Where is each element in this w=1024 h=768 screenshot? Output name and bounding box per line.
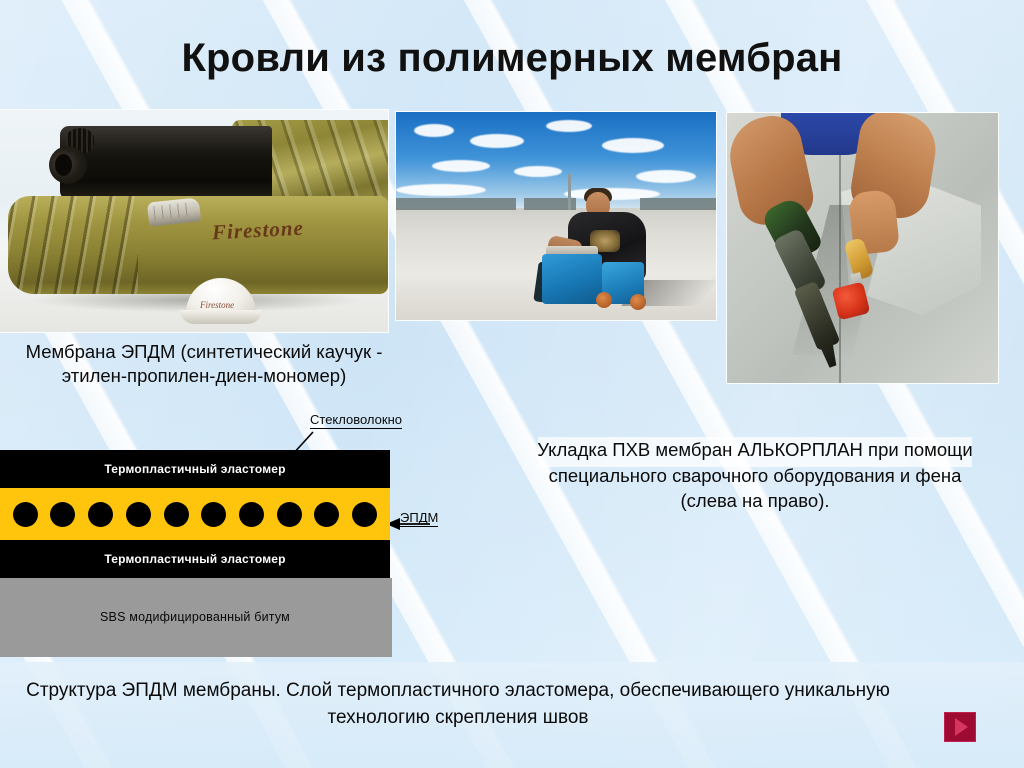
cloud-icon [432, 160, 490, 172]
caption-structure-summary: Структура ЭПДМ мембраны. Слой термопласт… [18, 678, 898, 732]
epdm-dot [126, 502, 151, 527]
welder-wheel [596, 292, 612, 308]
distant-buildings [396, 198, 516, 210]
slide-canvas: Кровли из полимерных мембран Firestone F… [0, 0, 1024, 768]
photo-membrane-rolls: Firestone Firestone [0, 110, 388, 332]
distant-tower [568, 174, 571, 210]
page-title: Кровли из полимерных мембран [0, 36, 1024, 80]
epdm-dot-row [0, 488, 390, 540]
epdm-dot [239, 502, 264, 527]
epdm-dot [50, 502, 75, 527]
hard-hat-brim [180, 310, 262, 324]
photo-welding-detail [727, 113, 998, 383]
cloud-icon [602, 138, 664, 153]
epdm-dot [352, 502, 377, 527]
welder-wheel [630, 294, 646, 310]
cloud-icon [546, 120, 592, 132]
epdm-dot [88, 502, 113, 527]
epdm-dot [277, 502, 302, 527]
distant-buildings [640, 198, 716, 210]
cloud-icon [470, 134, 524, 148]
epdm-dot [201, 502, 226, 527]
epdm-dot [314, 502, 339, 527]
play-triangle-icon [955, 718, 968, 736]
hard-hat-label: Firestone [200, 300, 234, 310]
cloud-icon [414, 124, 454, 137]
caption-epdm-membrane: Мембрана ЭПДМ (синтетический каучук - эт… [6, 340, 402, 389]
callout-label-epdm: ЭПДМ [400, 510, 438, 527]
next-slide-button[interactable] [944, 712, 976, 742]
callout-label-fiberglass: Стекловолокно [310, 412, 402, 429]
layer-label-sbs: SBS модифицированный битум [0, 610, 390, 624]
welding-machine-body [542, 254, 602, 304]
epdm-dot [13, 502, 38, 527]
epdm-structure-diagram: Термопластичный эластомер Термопластичны… [0, 450, 392, 658]
cloud-icon [636, 170, 696, 183]
photo-roof-welder [396, 112, 716, 320]
roll-wrapping-bottom-folds [8, 196, 138, 294]
caption-pvc-installation: Укладка ПХВ мембран АЛЬКОРПЛАН при помощ… [520, 437, 990, 514]
layer-label-tpe-bottom: Термопластичный эластомер [0, 552, 390, 566]
layer-label-tpe-top: Термопластичный эластомер [0, 462, 390, 476]
roll-core-hole [55, 154, 72, 176]
brand-label: Firestone [211, 216, 304, 246]
epdm-dot [164, 502, 189, 527]
cloud-icon [396, 184, 486, 196]
cloud-icon [514, 166, 562, 177]
